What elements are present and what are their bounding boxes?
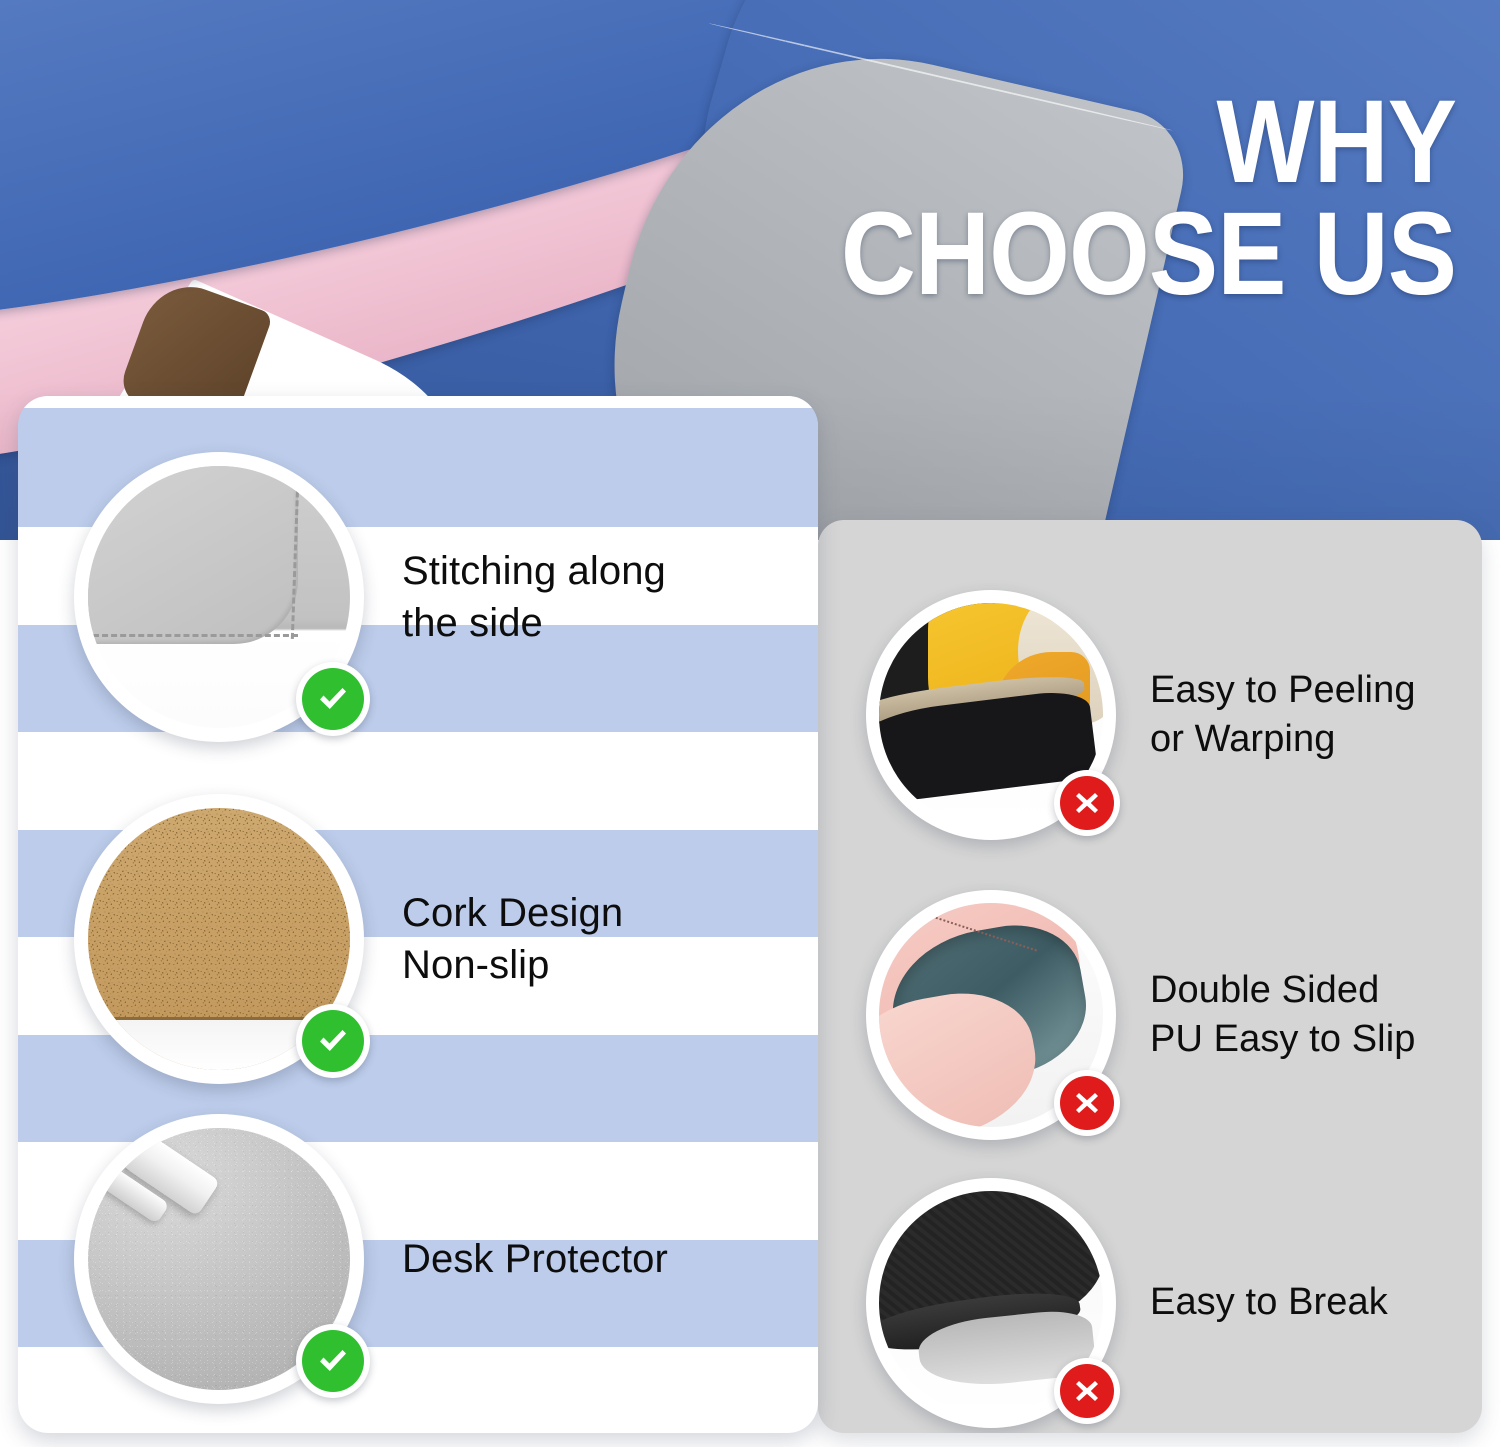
- cons-thumb-peeling: [866, 590, 1116, 840]
- cons-label-peeling-line1: Easy to Peeling: [1150, 669, 1416, 711]
- cons-label-double-sided-line1: Double Sided: [1150, 969, 1379, 1011]
- red-cross-badge: [1054, 1358, 1120, 1424]
- green-check-badge: [296, 662, 370, 736]
- pros-item-desk-protector: Desk Protector: [74, 1114, 774, 1404]
- title-line-2: CHOOSE US: [841, 198, 1456, 310]
- title-line-1: WHY: [841, 86, 1456, 198]
- cons-thumb-break: [866, 1178, 1116, 1428]
- page-title: WHY CHOOSE US: [841, 86, 1456, 310]
- pros-label-cork-line2: Non-slip: [402, 939, 623, 991]
- pros-panel: Stitching along the side Cork Desig: [18, 396, 818, 1433]
- pros-label-cork-line1: Cork Design: [402, 891, 623, 935]
- pros-label-stitching: Stitching along the side: [402, 545, 666, 649]
- cons-thumb-double-sided: [866, 890, 1116, 1140]
- cons-panel: Easy to Peeling or Warping Double S: [818, 520, 1482, 1433]
- cons-label-peeling: Easy to Peeling or Warping: [1150, 666, 1416, 765]
- pros-label-stitching-line1: Stitching along: [402, 549, 666, 593]
- cons-label-break-line1: Easy to Break: [1150, 1281, 1388, 1323]
- pros-label-stitching-line2: the side: [402, 597, 666, 649]
- infographic-root: WHY CHOOSE US Easy to Peeling: [0, 0, 1500, 1447]
- pros-thumb-desk-protector: [74, 1114, 364, 1404]
- cons-label-double-sided-line2: PU Easy to Slip: [1150, 1015, 1416, 1064]
- cons-label-double-sided: Double Sided PU Easy to Slip: [1150, 966, 1416, 1065]
- green-check-badge: [296, 1324, 370, 1398]
- cons-item-peeling: Easy to Peeling or Warping: [866, 590, 1446, 840]
- cons-label-peeling-line2: or Warping: [1150, 715, 1416, 764]
- pros-thumb-cork: [74, 794, 364, 1084]
- cons-item-double-sided: Double Sided PU Easy to Slip: [866, 890, 1446, 1140]
- red-cross-badge: [1054, 1070, 1120, 1136]
- red-cross-badge: [1054, 770, 1120, 836]
- cons-label-break: Easy to Break: [1150, 1278, 1388, 1327]
- pros-label-desk-protector-line1: Desk Protector: [402, 1237, 668, 1281]
- cons-item-break: Easy to Break: [866, 1178, 1446, 1428]
- green-check-badge: [296, 1004, 370, 1078]
- pros-thumb-stitching: [74, 452, 364, 742]
- pros-item-cork: Cork Design Non-slip: [74, 794, 774, 1084]
- pros-item-stitching: Stitching along the side: [74, 452, 774, 742]
- pros-label-cork: Cork Design Non-slip: [402, 887, 623, 991]
- pros-label-desk-protector: Desk Protector: [402, 1233, 668, 1285]
